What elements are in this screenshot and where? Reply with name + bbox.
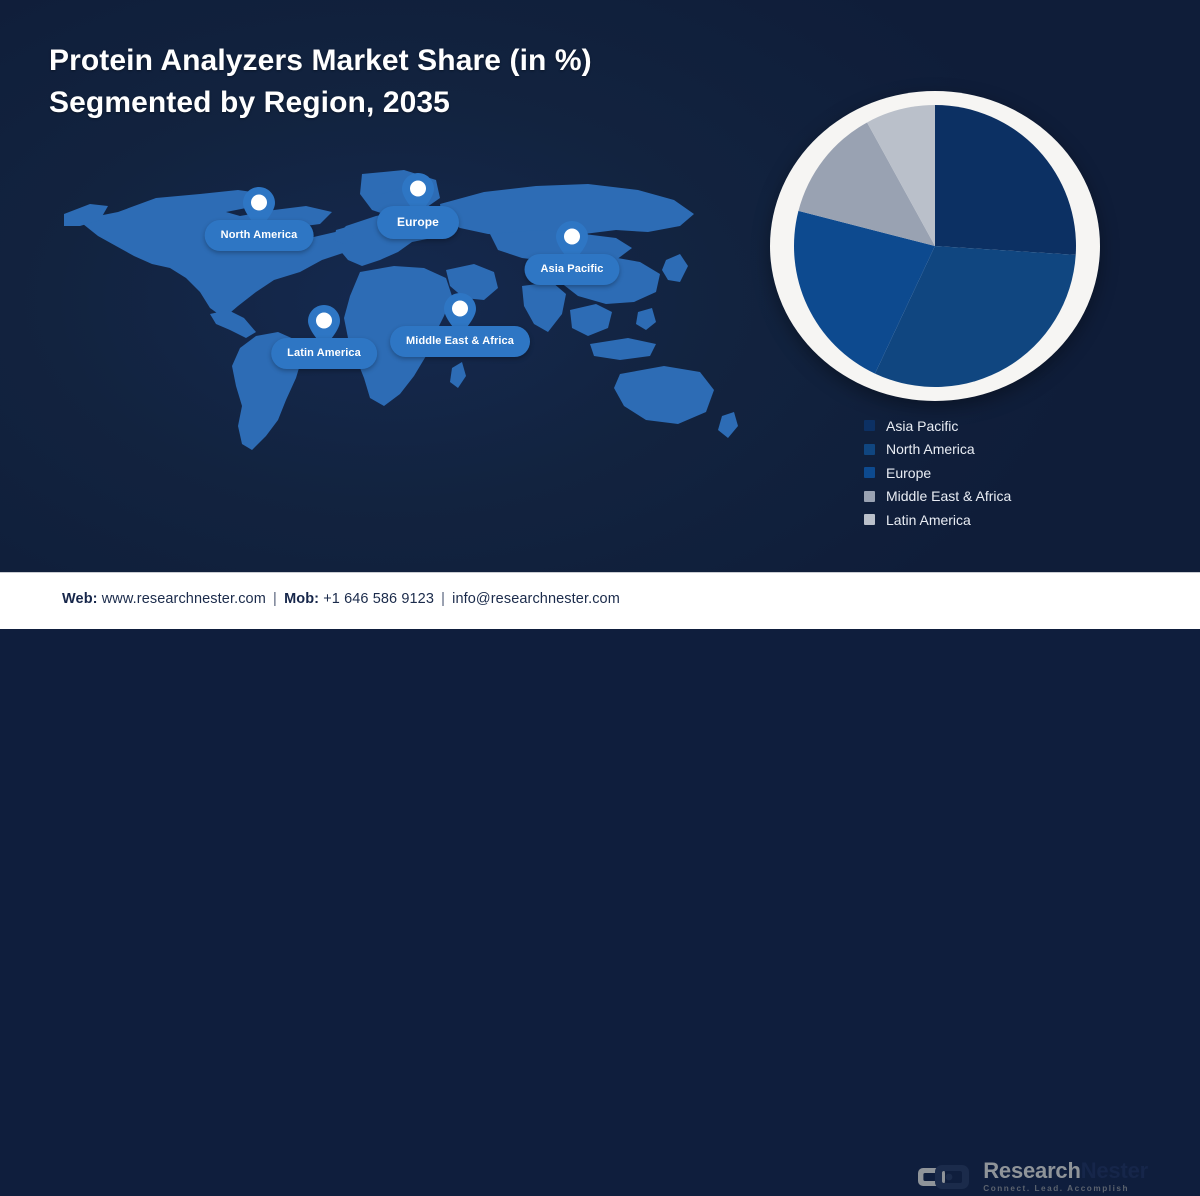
footer-web-label: Web: bbox=[62, 591, 98, 607]
pie-slices[interactable] bbox=[794, 105, 1076, 387]
research-nester-logo[interactable]: ResearchNester Connect. Lead. Accomplish bbox=[918, 1158, 1148, 1196]
legend-label: Asia Pacific bbox=[886, 418, 958, 434]
footer-separator: | bbox=[438, 591, 448, 607]
logo-name-nester: Nester bbox=[1081, 1158, 1148, 1183]
legend-label: Latin America bbox=[886, 512, 971, 528]
map-marker-asia-pacific[interactable]: Asia Pacific bbox=[512, 220, 632, 310]
legend-swatch bbox=[864, 491, 875, 502]
legend-item-latin-america[interactable]: Latin America bbox=[864, 508, 1124, 532]
legend-item-asia-pacific[interactable]: Asia Pacific bbox=[864, 414, 1124, 438]
legend-label: Europe bbox=[886, 465, 931, 481]
footer-web-value[interactable]: www.researchnester.com bbox=[102, 591, 266, 607]
logo-name-research: Research bbox=[983, 1158, 1080, 1183]
pie-chart-svg bbox=[784, 105, 1086, 387]
map-marker-middle-east-africa[interactable]: Middle East & Africa bbox=[400, 292, 520, 382]
footer-separator: | bbox=[270, 591, 280, 607]
legend-swatch bbox=[864, 514, 875, 525]
legend-item-europe[interactable]: Europe bbox=[864, 461, 1124, 485]
chain-link-logo-icon bbox=[918, 1163, 974, 1191]
page-title-line-2: Segmented by Region, 2035 bbox=[49, 82, 749, 124]
chart-legend: Asia Pacific North America Europe Middle… bbox=[864, 414, 1124, 532]
legend-swatch bbox=[864, 420, 875, 431]
map-marker-north-america[interactable]: North America bbox=[199, 186, 319, 276]
legend-item-north-america[interactable]: North America bbox=[864, 438, 1124, 462]
footer-email-value[interactable]: info@researchnester.com bbox=[452, 591, 620, 607]
map-marker-label: Asia Pacific bbox=[525, 254, 620, 285]
footer-contact-line: Web: www.researchnester.com | Mob: +1 64… bbox=[62, 591, 620, 607]
pie-slice-asia-pacific[interactable] bbox=[935, 105, 1076, 255]
map-marker-europe[interactable]: Europe bbox=[358, 172, 478, 262]
map-marker-label: North America bbox=[205, 220, 314, 251]
legend-item-middle-east-africa[interactable]: Middle East & Africa bbox=[864, 485, 1124, 509]
infographic-canvas: Protein Analyzers Market Share (in %) Se… bbox=[0, 0, 1200, 628]
logo-text: ResearchNester Connect. Lead. Accomplish bbox=[983, 1160, 1148, 1193]
footer-mob-label: Mob: bbox=[284, 591, 319, 607]
logo-name: ResearchNester bbox=[983, 1160, 1148, 1182]
legend-label: Middle East & Africa bbox=[886, 488, 1011, 504]
footer-mob-value[interactable]: +1 646 586 9123 bbox=[323, 591, 434, 607]
logo-tagline: Connect. Lead. Accomplish bbox=[983, 1185, 1148, 1193]
map-marker-label: Latin America bbox=[271, 338, 377, 369]
footer-bar: Web: www.researchnester.com | Mob: +1 64… bbox=[0, 572, 1200, 629]
map-marker-label: Europe bbox=[377, 206, 459, 239]
page-title-line-1: Protein Analyzers Market Share (in %) bbox=[49, 40, 749, 82]
legend-label: North America bbox=[886, 441, 975, 457]
world-map: North America Europe Asia Pacific Latin … bbox=[60, 168, 740, 460]
pie-chart bbox=[760, 85, 1110, 405]
legend-swatch bbox=[864, 444, 875, 455]
map-marker-label: Middle East & Africa bbox=[390, 326, 530, 357]
page-title: Protein Analyzers Market Share (in %) Se… bbox=[49, 40, 749, 124]
map-marker-latin-america[interactable]: Latin America bbox=[264, 304, 384, 394]
legend-swatch bbox=[864, 467, 875, 478]
